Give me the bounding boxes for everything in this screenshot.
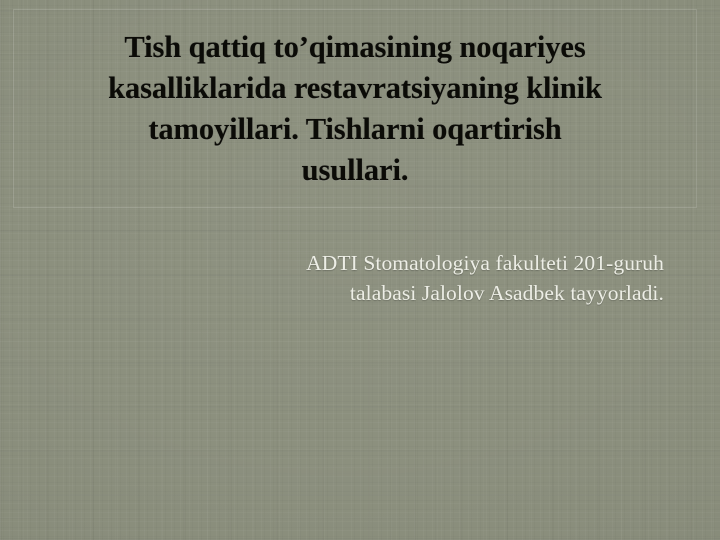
slide-subtitle: ADTI Stomatologiya fakulteti 201-guruh t… — [120, 248, 664, 308]
title-line-3: tamoyillari. Tishlarni oqartirish — [21, 109, 689, 150]
title-line-2: kasalliklarida restavratsiyaning klinik — [21, 68, 689, 109]
title-line-1: Tish qattiq to’qimasining noqariyes — [21, 27, 689, 68]
presentation-slide: Tish qattiq to’qimasining noqariyes kasa… — [0, 0, 720, 540]
title-placeholder[interactable]: Tish qattiq to’qimasining noqariyes kasa… — [13, 9, 697, 208]
subtitle-placeholder[interactable]: ADTI Stomatologiya fakulteti 201-guruh t… — [120, 248, 672, 308]
subtitle-line-1: ADTI Stomatologiya fakulteti 201-guruh — [120, 248, 664, 278]
title-line-4: usullari. — [21, 150, 689, 191]
subtitle-line-2: talabasi Jalolov Asadbek tayyorladi. — [120, 278, 664, 308]
slide-title: Tish qattiq to’qimasining noqariyes kasa… — [21, 27, 689, 191]
